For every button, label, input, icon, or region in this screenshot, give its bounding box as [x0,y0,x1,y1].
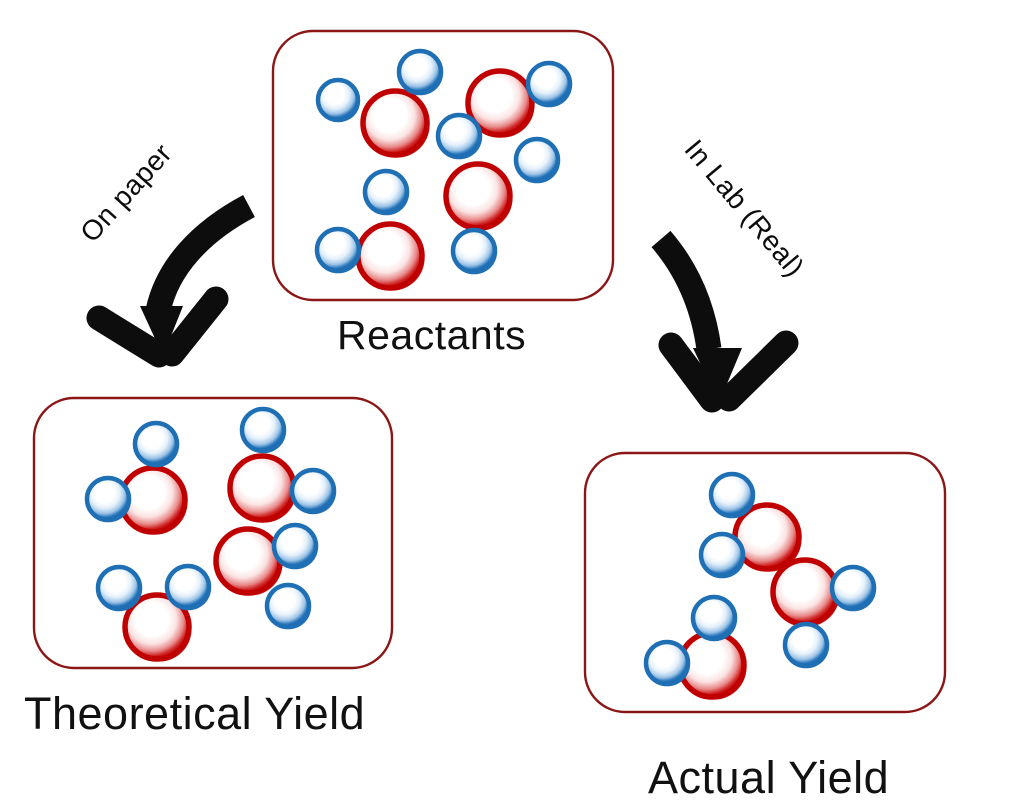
hydrogen-sphere [274,525,316,567]
hydrogen-atom-reactants-11 [318,80,360,122]
arrow-to-actual [661,239,786,403]
hydrogen-sphere [711,474,753,516]
hydrogen-sphere [317,229,359,271]
hydrogen-sphere [318,80,358,120]
hydrogen-sphere [516,139,558,181]
hydrogen-sphere [701,534,743,576]
diagram-canvas: Reactants Theoretical Yield Actual Yield… [0,0,1011,809]
hydrogen-atom-actual-6 [785,624,829,668]
box-theoretical [34,398,392,668]
hydrogen-sphere [785,624,827,666]
oxygen-atom-theoretical-1 [230,456,297,523]
hydrogen-sphere [832,567,874,609]
oxygen-sphere [216,529,280,593]
hydrogen-sphere [87,478,129,520]
oxygen-sphere [446,164,510,228]
hydrogen-atom-reactants-10 [453,230,497,274]
caption-actual-yield: Actual Yield [648,752,889,804]
hydrogen-atom-theoretical-10 [98,567,142,611]
oxygen-atom-reactants-0 [363,91,430,158]
oxygen-atom-reactants-3 [358,224,425,291]
hydrogen-sphere [646,642,688,684]
hydrogen-atom-theoretical-6 [242,409,286,453]
hydrogen-sphere [528,63,570,105]
hydrogen-atom-reactants-4 [399,51,443,95]
hydrogen-sphere [242,409,284,451]
oxygen-atom-reactants-2 [446,164,513,231]
box-actual [585,453,945,712]
oxygen-sphere [363,91,427,155]
oxygen-sphere [230,456,294,520]
actual-box-outline [585,453,945,712]
caption-reactants: Reactants [337,312,526,359]
hydrogen-sphere [267,585,309,627]
hydrogen-atom-theoretical-9 [267,585,311,629]
oxygen-atom-actual-1 [773,560,840,627]
hydrogen-atom-theoretical-5 [87,478,131,522]
oxygen-sphere [358,224,422,288]
hydrogen-sphere [98,567,140,609]
hydrogen-atom-theoretical-8 [274,525,318,569]
theoretical-box-outline [34,398,392,668]
hydrogen-atom-reactants-9 [317,229,361,273]
hydrogen-atom-reactants-8 [365,171,409,215]
hydrogen-sphere [167,566,209,608]
hydrogen-atom-actual-7 [693,597,737,641]
hydrogen-atom-reactants-6 [438,115,482,159]
hydrogen-sphere [292,470,334,512]
hydrogen-sphere [693,597,735,639]
hydrogen-atom-reactants-7 [516,139,560,183]
hydrogen-atom-actual-8 [646,642,690,686]
hydrogen-atom-theoretical-4 [135,423,179,467]
hydrogen-sphere [135,423,177,465]
oxygen-sphere [773,560,837,624]
oxygen-atom-theoretical-2 [216,529,283,596]
arrow-shaft-right [661,239,709,349]
hydrogen-atom-actual-4 [701,534,745,578]
hydrogen-atom-actual-3 [711,474,755,518]
hydrogen-atom-theoretical-11 [167,566,211,610]
hydrogen-atom-theoretical-7 [292,470,336,514]
hydrogen-sphere [399,51,441,93]
arrow-to-theoretical [99,206,249,356]
caption-theoretical-yield: Theoretical Yield [24,688,365,740]
hydrogen-atom-reactants-5 [528,63,572,107]
hydrogen-atom-actual-5 [832,567,876,611]
hydrogen-sphere [453,230,495,272]
hydrogen-sphere [438,115,480,157]
hydrogen-sphere [365,171,407,213]
